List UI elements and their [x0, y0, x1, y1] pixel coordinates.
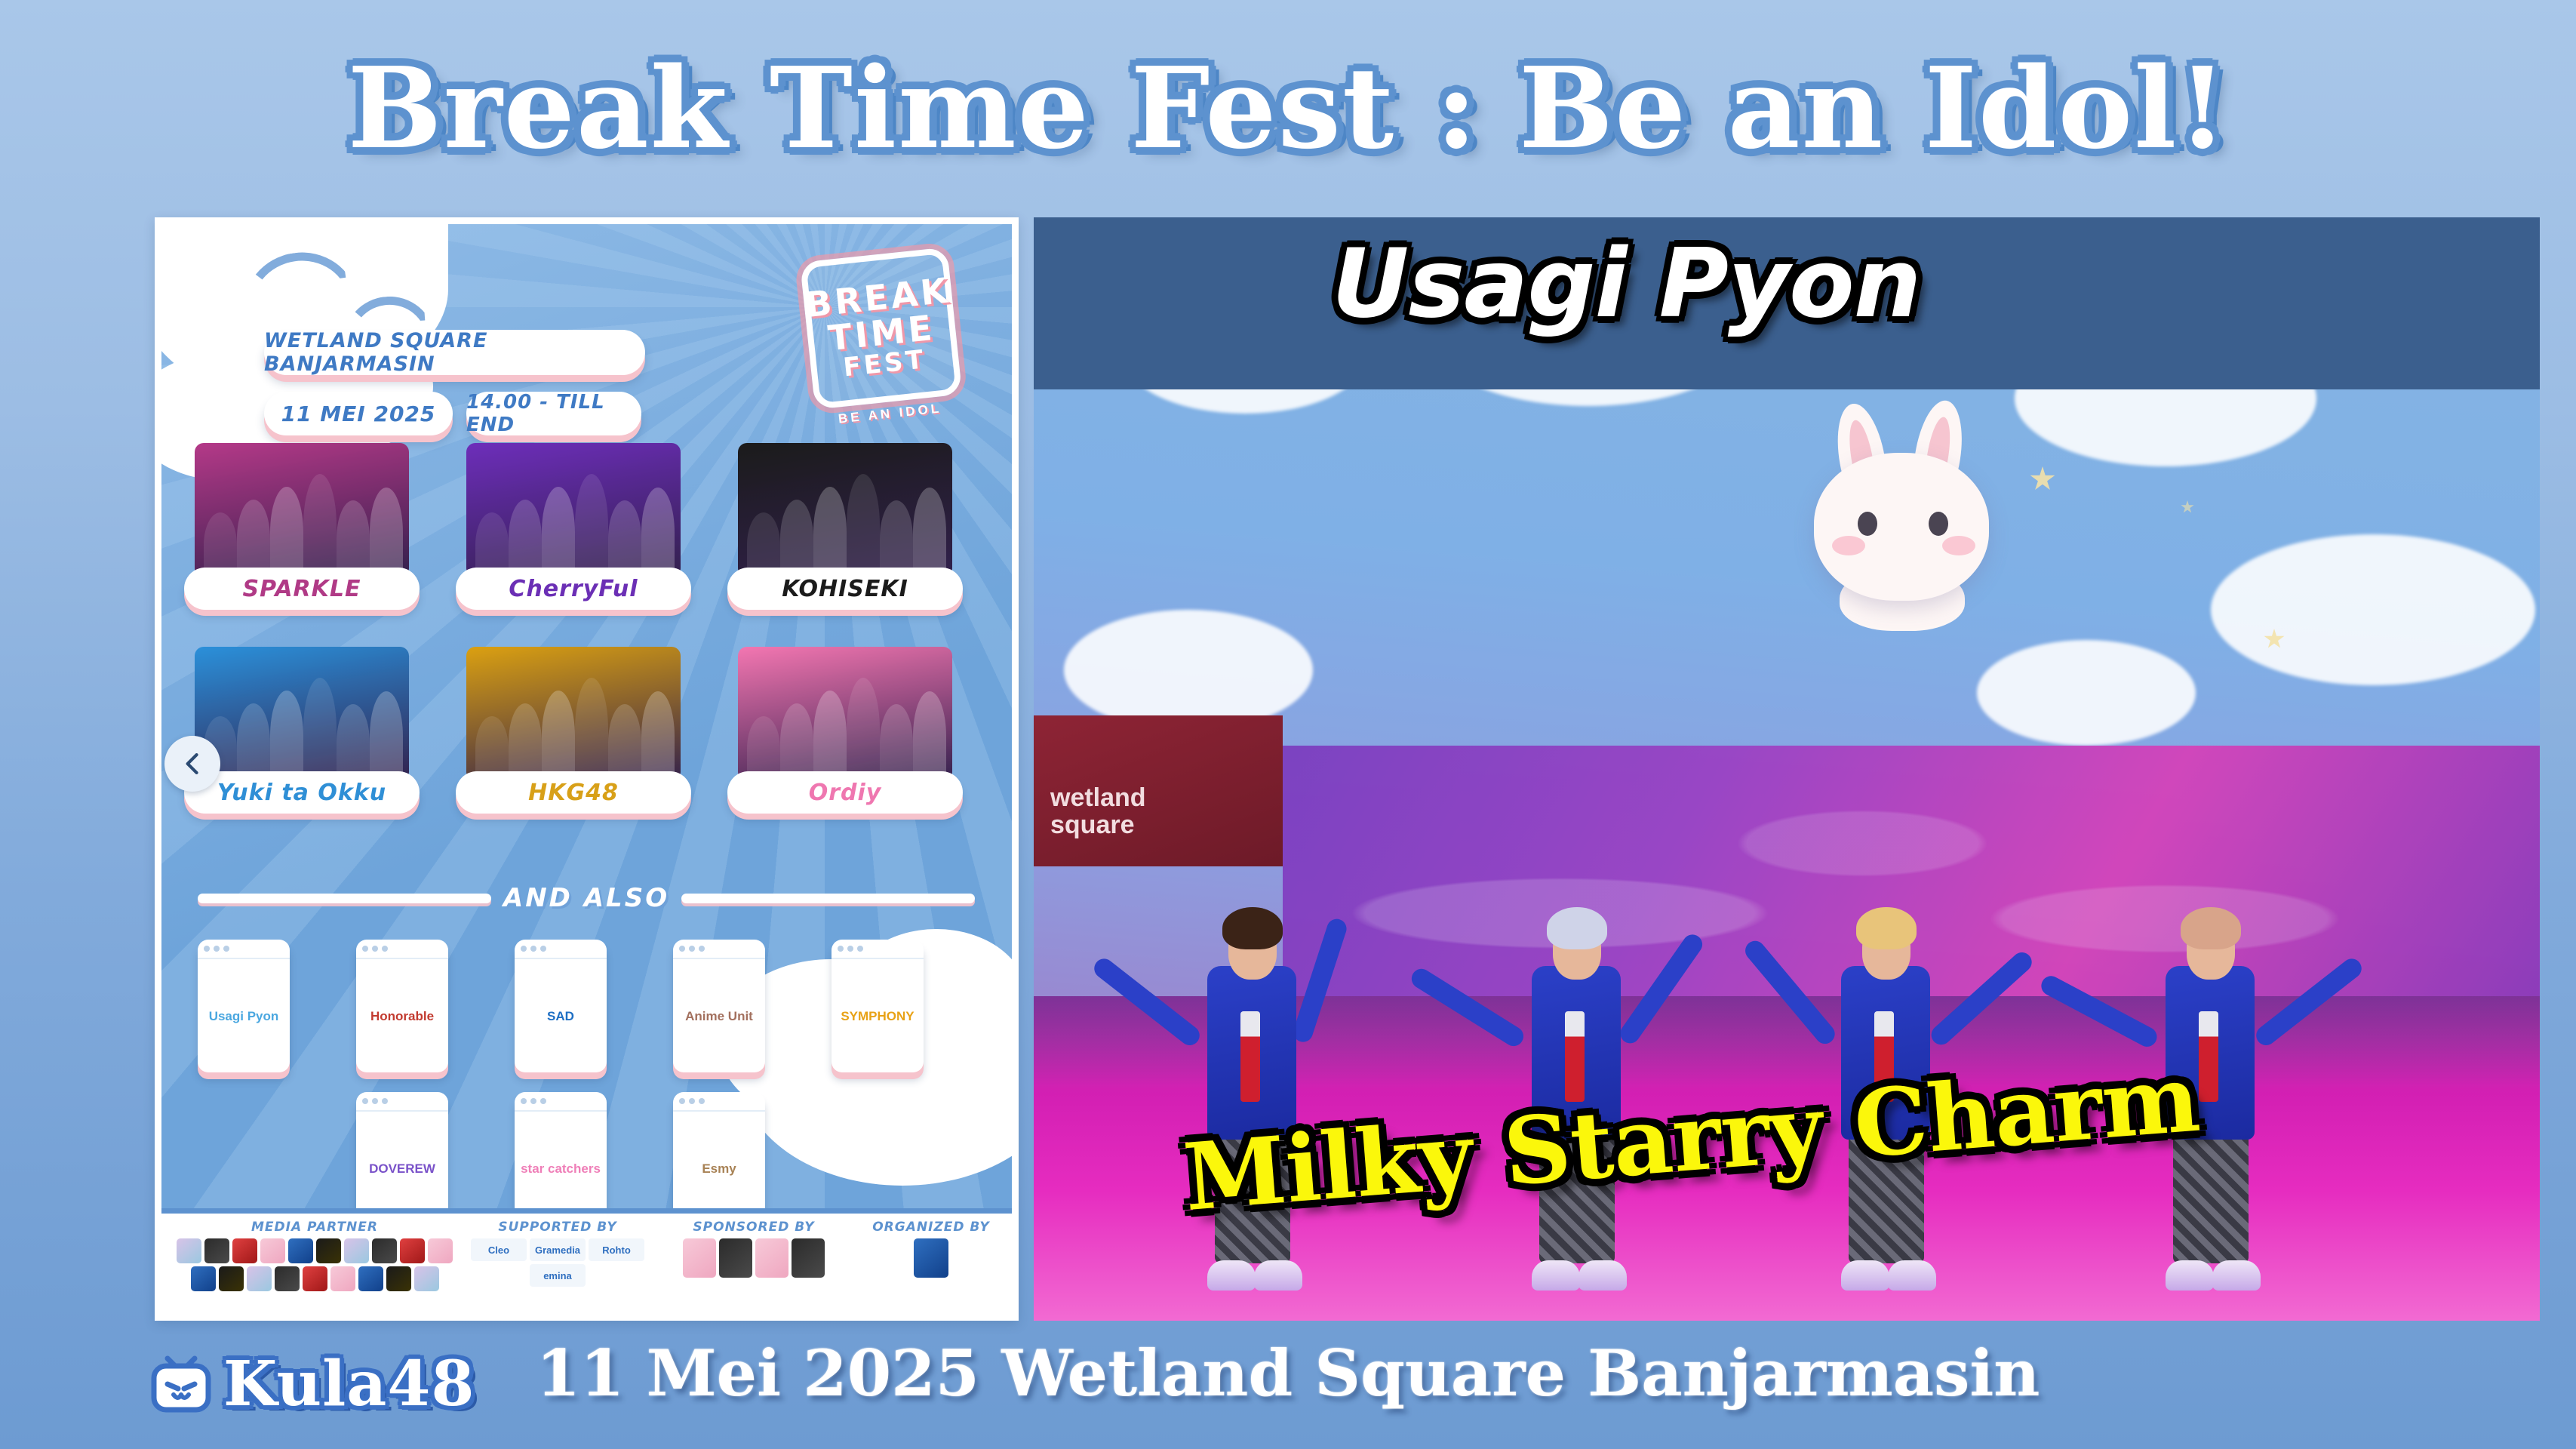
divider-bar-right: [681, 894, 975, 903]
credit-logo-label: Gramedia: [535, 1244, 580, 1256]
supporting-act-card: Usagi Pyon: [198, 940, 290, 1072]
backdrop-cloud-4: [2211, 534, 2535, 685]
backdrop-star-3: [2181, 500, 2194, 514]
performer-shoe-right: [1578, 1260, 1627, 1291]
headliner-name: CherryFul: [509, 576, 638, 602]
poster-date-pill: 11 MEI 2025: [264, 392, 453, 435]
credit-logo: emina: [530, 1264, 586, 1287]
card-dot: [521, 946, 527, 952]
credit-column-title: MEDIA PARTNER: [175, 1220, 454, 1235]
and-also-label: AND ALSO: [503, 883, 669, 913]
credit-logo: [914, 1238, 948, 1278]
credit-logo-grid: CleoGramediaRohtoemina: [463, 1238, 652, 1287]
credit-logo-label: Cleo: [488, 1244, 509, 1256]
credit-logo-label: Rohto: [602, 1244, 631, 1256]
bunny-eye-left: [1858, 512, 1877, 536]
credit-logo: [177, 1238, 201, 1263]
card-dot: [204, 946, 210, 952]
performer-shoe-left: [2166, 1260, 2214, 1291]
headliner-photo: [738, 443, 952, 577]
and-also-divider: AND ALSO: [198, 881, 975, 915]
headliner-photo: [466, 647, 681, 781]
credit-logo-label: emina: [543, 1270, 572, 1281]
headliner-photo: [195, 647, 409, 781]
page-title-bar: Break Time Fest : Be an Idol!: [0, 36, 2576, 180]
headliner-name-bar: SPARKLE: [184, 568, 420, 610]
card-dot: [540, 1098, 546, 1104]
performer-tie: [2199, 1011, 2218, 1102]
credit-logo-grid: [175, 1238, 454, 1291]
credit-logo: [275, 1266, 300, 1291]
card-titlebar: [198, 940, 290, 959]
credit-logo: [303, 1266, 327, 1291]
headliner-name: Yuki ta Okku: [217, 780, 386, 806]
bunny-blush-right: [1942, 536, 1975, 555]
poster-venue-pill: WETLAND SQUARE BANJARMASIN: [264, 330, 645, 375]
performer-shoe-right: [1254, 1260, 1302, 1291]
card-dot: [530, 1098, 536, 1104]
performer-shoe-right: [1888, 1260, 1936, 1291]
credit-logo: [719, 1238, 752, 1278]
performer-caption: Usagi Pyon: [1332, 228, 1920, 339]
bunny-head: [1814, 453, 1989, 601]
card-dot: [847, 946, 853, 952]
headliner-name-bar: Ordiy: [727, 771, 963, 814]
card-dot: [689, 1098, 695, 1104]
poster-time-pill: 14.00 - TILL END: [466, 392, 641, 435]
card-titlebar: [356, 1092, 448, 1112]
credit-column: MEDIA PARTNER: [175, 1220, 454, 1291]
headliner-card: HKG48: [456, 647, 691, 824]
card-dot: [223, 946, 229, 952]
card-dot: [382, 946, 388, 952]
supporting-act-name: Honorable: [356, 961, 448, 1072]
performer-hair: [1222, 907, 1283, 949]
supporting-act-name: SAD: [515, 961, 607, 1072]
headliner-photo: [195, 443, 409, 577]
credit-logo: Rohto: [589, 1238, 644, 1261]
card-dot: [699, 1098, 705, 1104]
card-dot: [838, 946, 844, 952]
chevron-left-icon: [178, 749, 207, 778]
headliner-name-bar: CherryFul: [456, 568, 691, 610]
logo-box: BREAK TIME FEST: [800, 247, 962, 409]
backdrop-cloud-5: [1064, 610, 1313, 731]
card-dot: [521, 1098, 527, 1104]
card-titlebar: [673, 940, 765, 959]
headliner-photo: [738, 647, 952, 781]
supporting-act-card: Esmy: [673, 1092, 765, 1225]
card-titlebar: [673, 1092, 765, 1112]
headliner-name-bar: HKG48: [456, 771, 691, 814]
headliner-name: KOHISEKI: [782, 576, 908, 602]
credit-column: ORGANIZED BY: [856, 1220, 1007, 1278]
card-dot: [679, 946, 685, 952]
card-titlebar: [832, 940, 924, 959]
credit-logo-grid: [659, 1238, 848, 1278]
headliner-card: SPARKLE: [184, 443, 420, 620]
break-time-fest-logo: BREAK TIME FEST BE AN IDOL: [782, 235, 982, 441]
poster-credits-footer: MEDIA PARTNERSUPPORTED BYCleoGramediaRoh…: [161, 1208, 1012, 1314]
credit-logo: [247, 1266, 272, 1291]
card-titlebar: [515, 1092, 607, 1112]
performer-shoe-left: [1532, 1260, 1580, 1291]
card-dot: [679, 1098, 685, 1104]
headliner-card: Ordiy: [727, 647, 963, 824]
performer-hair: [2181, 907, 2241, 949]
video-player-panel[interactable]: wetlandsquare Usagi Pyon Milky Starry Ch…: [1034, 217, 2540, 1321]
credit-logo: [219, 1266, 244, 1291]
card-dot: [362, 1098, 368, 1104]
bunny-blush-left: [1832, 536, 1865, 555]
card-dot: [540, 946, 546, 952]
credit-column: SUPPORTED BYCleoGramediaRohtoemina: [463, 1220, 652, 1287]
card-dot: [857, 946, 863, 952]
card-dot: [372, 946, 378, 952]
backdrop-star-1: [2030, 466, 2055, 492]
credit-logo: [386, 1266, 411, 1291]
credit-logo-grid: [856, 1238, 1007, 1278]
supporting-act-card: SYMPHONY: [832, 940, 924, 1072]
supporting-act-name: Anime Unit: [673, 961, 765, 1072]
card-dot: [382, 1098, 388, 1104]
supporting-act-card: Anime Unit: [673, 940, 765, 1072]
card-dot: [699, 946, 705, 952]
supporting-act-card: DOVEREW: [356, 1092, 448, 1225]
brand-logo[interactable]: Kula48: [148, 1348, 475, 1420]
supporting-act-name: SYMPHONY: [832, 961, 924, 1072]
credit-logo: [288, 1238, 313, 1263]
headliner-name-bar: Yuki ta Okku: [184, 771, 420, 814]
credit-logo: [372, 1238, 397, 1263]
card-dot: [689, 946, 695, 952]
credit-logo: [204, 1238, 229, 1263]
performer-tie: [1565, 1011, 1585, 1102]
page-title: Break Time Fest : Be an Idol!: [348, 52, 2229, 164]
credit-logo: [344, 1238, 369, 1263]
bunny-eye-right: [1929, 512, 1948, 536]
credit-logo: [755, 1238, 788, 1278]
event-poster-panel[interactable]: WETLAND SQUARE BANJARMASIN 11 MEI 2025 1…: [155, 217, 1019, 1321]
credit-logo: [683, 1238, 716, 1278]
card-dot: [362, 946, 368, 952]
card-dot: [530, 946, 536, 952]
brand-name: Kula48: [223, 1348, 475, 1420]
headliner-name: SPARKLE: [242, 576, 361, 602]
performer-tie: [1240, 1011, 1260, 1102]
credit-logo: [232, 1238, 257, 1263]
card-titlebar: [515, 940, 607, 959]
divider-bar-left: [198, 894, 491, 903]
logo-line-3: FEST: [842, 346, 927, 381]
credit-column: SPONSORED BY: [659, 1220, 848, 1278]
supporting-act-name: Usagi Pyon: [198, 961, 290, 1072]
credit-logo: [191, 1266, 216, 1291]
backdrop-cloud-6: [1977, 640, 2196, 746]
headliner-name: HKG48: [528, 780, 619, 806]
credit-logo: [358, 1266, 383, 1291]
credit-logo: [316, 1238, 341, 1263]
credit-logo: Cleo: [471, 1238, 527, 1261]
headliner-name-bar: KOHISEKI: [727, 568, 963, 610]
supporting-act-card: SAD: [515, 940, 607, 1072]
stage-performer: [1532, 868, 1637, 1291]
credit-logo: Gramedia: [530, 1238, 586, 1261]
performer-shoe-left: [1207, 1260, 1256, 1291]
performer-hair: [1856, 907, 1917, 949]
credit-logo: [330, 1266, 355, 1291]
bunny-mascot-icon: [1803, 406, 2000, 632]
headliner-photo: [466, 443, 681, 577]
headliner-card: Yuki ta Okku: [184, 647, 420, 824]
performer-shoe-right: [2212, 1260, 2261, 1291]
supporting-act-card: star catchers: [515, 1092, 607, 1225]
supporting-act-card: Honorable: [356, 940, 448, 1072]
headliner-card: CherryFul: [456, 443, 691, 620]
credit-column-title: SUPPORTED BY: [463, 1220, 652, 1235]
card-titlebar: [356, 940, 448, 959]
credit-column-title: ORGANIZED BY: [856, 1220, 1007, 1235]
headliner-name: Ordiy: [809, 780, 882, 806]
card-dot: [372, 1098, 378, 1104]
credit-logo: [792, 1238, 825, 1278]
card-dot: [214, 946, 220, 952]
credit-column-title: SPONSORED BY: [659, 1220, 848, 1235]
credit-logo: [400, 1238, 425, 1263]
poster-inner: WETLAND SQUARE BANJARMASIN 11 MEI 2025 1…: [161, 224, 1012, 1314]
wetland-square-sign: wetlandsquare: [1034, 715, 1283, 866]
credit-logo: [260, 1238, 285, 1263]
credit-logo: [428, 1238, 453, 1263]
credit-logo: [414, 1266, 439, 1291]
headliner-card: KOHISEKI: [727, 443, 963, 620]
performer-shoe-left: [1841, 1260, 1889, 1291]
prev-slide-button[interactable]: [164, 736, 220, 792]
tv-cat-face-icon: [148, 1354, 214, 1414]
performer-hair: [1547, 907, 1607, 949]
